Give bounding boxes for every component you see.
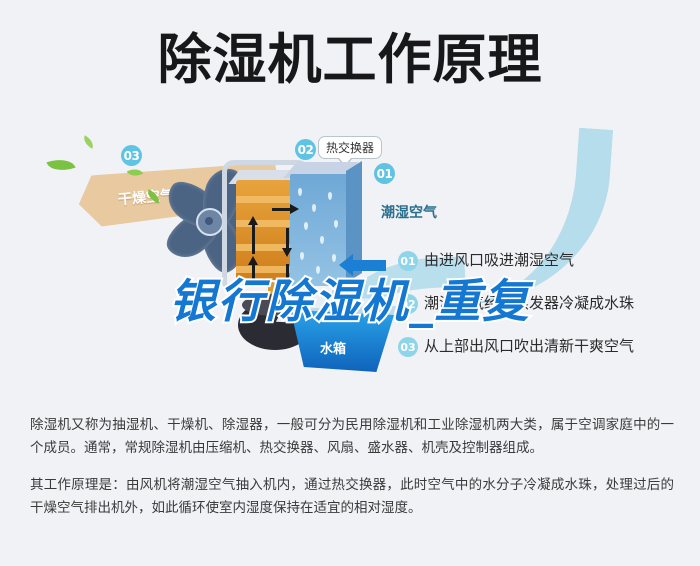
label-humid-air: 潮湿空气: [381, 202, 437, 222]
title-part-a: 除湿机: [158, 28, 323, 91]
description-block: 除湿机又称为抽湿机、干燥机、除湿器，一般可分为民用除湿机和工业除湿机两大类，属于…: [30, 414, 674, 534]
badge-03: 03: [121, 145, 142, 166]
watermark-label: 银行除湿机_重复: [170, 265, 531, 331]
fan-hub-icon: [196, 208, 224, 236]
page-title: 除湿机工作原理: [0, 28, 700, 92]
infographic-page: 除湿机工作原理 01 潮湿空气 03 干燥空气 02 热交换器: [0, 0, 700, 566]
label-water-tank: 水箱: [320, 338, 346, 357]
paragraph-1: 除湿机又称为抽湿机、干燥机、除湿器，一般可分为民用除湿机和工业除湿机两大类，属于…: [30, 414, 674, 460]
title-part-b: 工作原理: [323, 28, 543, 91]
legend-text-03: 从上部出风口吹出清新干爽空气: [424, 336, 634, 356]
legend-badge-03: 03: [398, 337, 418, 357]
paragraph-2: 其工作原理是：由风机将潮湿空气抽入机内，通过热交换器，此时空气中的水分子冷凝成水…: [30, 474, 674, 520]
leaf-icon: [46, 154, 75, 175]
watermark-text: 银行除湿机_重复: [0, 265, 700, 331]
leaf-icon: [81, 135, 96, 148]
legend-item: 03 从上部出风口吹出清新干爽空气: [398, 336, 688, 357]
